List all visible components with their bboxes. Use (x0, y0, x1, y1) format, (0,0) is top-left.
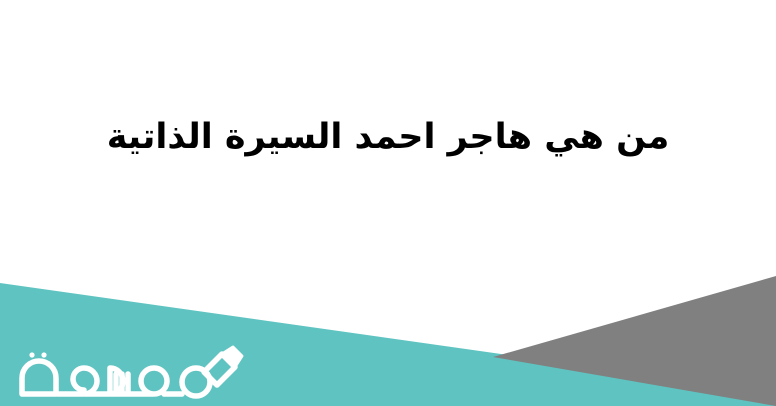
pen-tip (222, 347, 242, 367)
mawdoo3a-logo-svg (14, 330, 264, 400)
page-title: من هي هاجر احمد السيرة الذاتية (107, 114, 670, 161)
glyph-ain (58, 368, 97, 394)
gray-triangle (493, 276, 776, 406)
taa-dot-right (41, 352, 46, 357)
logo-letterforms (22, 352, 210, 396)
article-banner: من هي هاجر احمد السيرة الذاتية (0, 0, 776, 406)
headline-area: من هي هاجر احمد السيرة الذاتية (0, 0, 776, 276)
glyph-taa-marbuta (22, 361, 56, 394)
glyph-waw-2 (141, 368, 167, 394)
mawdoo3a-logo (14, 330, 264, 400)
taa-dot-left (29, 352, 34, 357)
pen-nib-icon (204, 347, 242, 385)
